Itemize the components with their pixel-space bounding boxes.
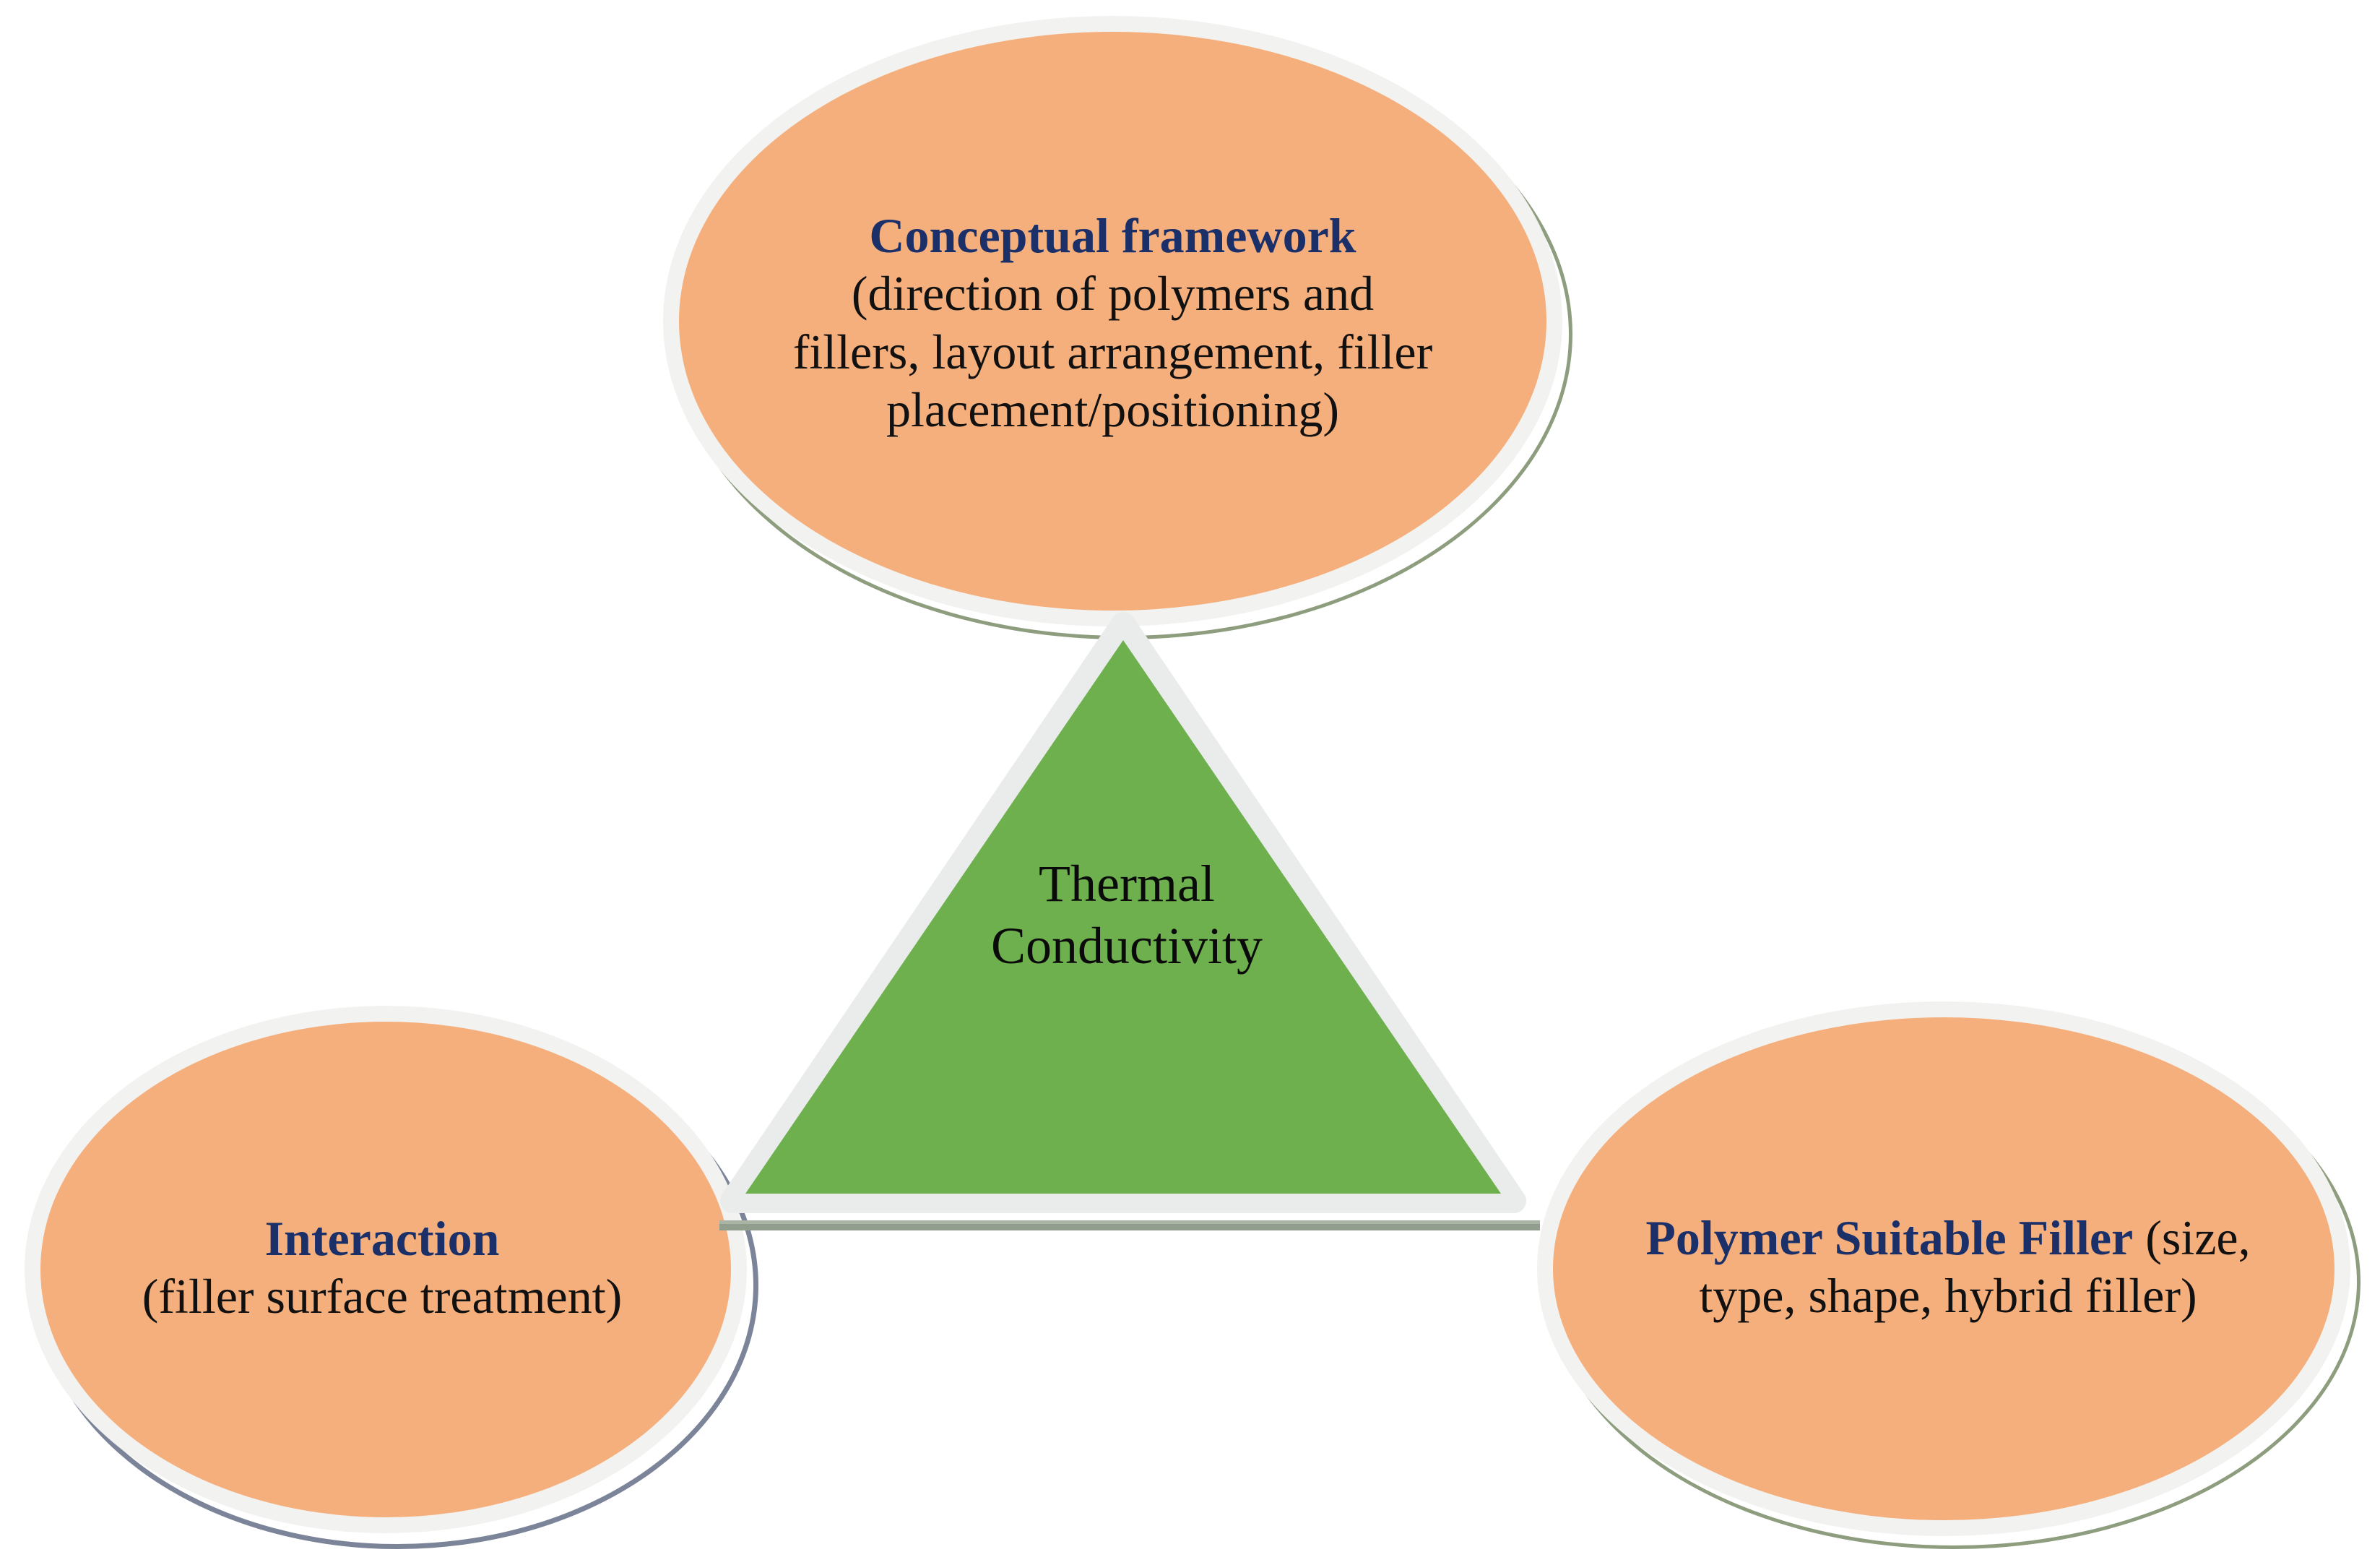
node-body: Polymer Suitable Filler (size, type, sha…	[1553, 1017, 2334, 1520]
triangle-label: Thermal Conductivity	[896, 853, 1358, 978]
node-conceptual-framework[interactable]: Conceptual framework (direction of polym…	[663, 16, 1562, 626]
node-label: Conceptual framework (direction of polym…	[679, 207, 1546, 439]
node-description: (filler surface treatment)	[142, 1269, 623, 1324]
node-label: Interaction (filler surface treatment)	[56, 1210, 709, 1325]
node-interaction[interactable]: Interaction (filler surface treatment)	[25, 1006, 747, 1533]
node-label: Polymer Suitable Filler (size, type, sha…	[1562, 1209, 2334, 1324]
node-heading: Conceptual framework	[869, 208, 1356, 263]
node-polymer-suitable-filler[interactable]: Polymer Suitable Filler (size, type, sha…	[1537, 1001, 2350, 1536]
node-heading: Interaction	[265, 1211, 500, 1266]
triangle-label-line-2: Conductivity	[896, 915, 1358, 977]
triangle-label-line-1: Thermal	[896, 853, 1358, 915]
node-body: Interaction (filler surface treatment)	[40, 1022, 731, 1517]
node-heading: Polymer Suitable Filler	[1645, 1210, 2133, 1265]
node-description: (direction of polymers and fillers, layo…	[793, 266, 1433, 436]
diagram-canvas: Conceptual framework (direction of polym…	[0, 0, 2380, 1565]
node-body: Conceptual framework (direction of polym…	[679, 32, 1546, 611]
